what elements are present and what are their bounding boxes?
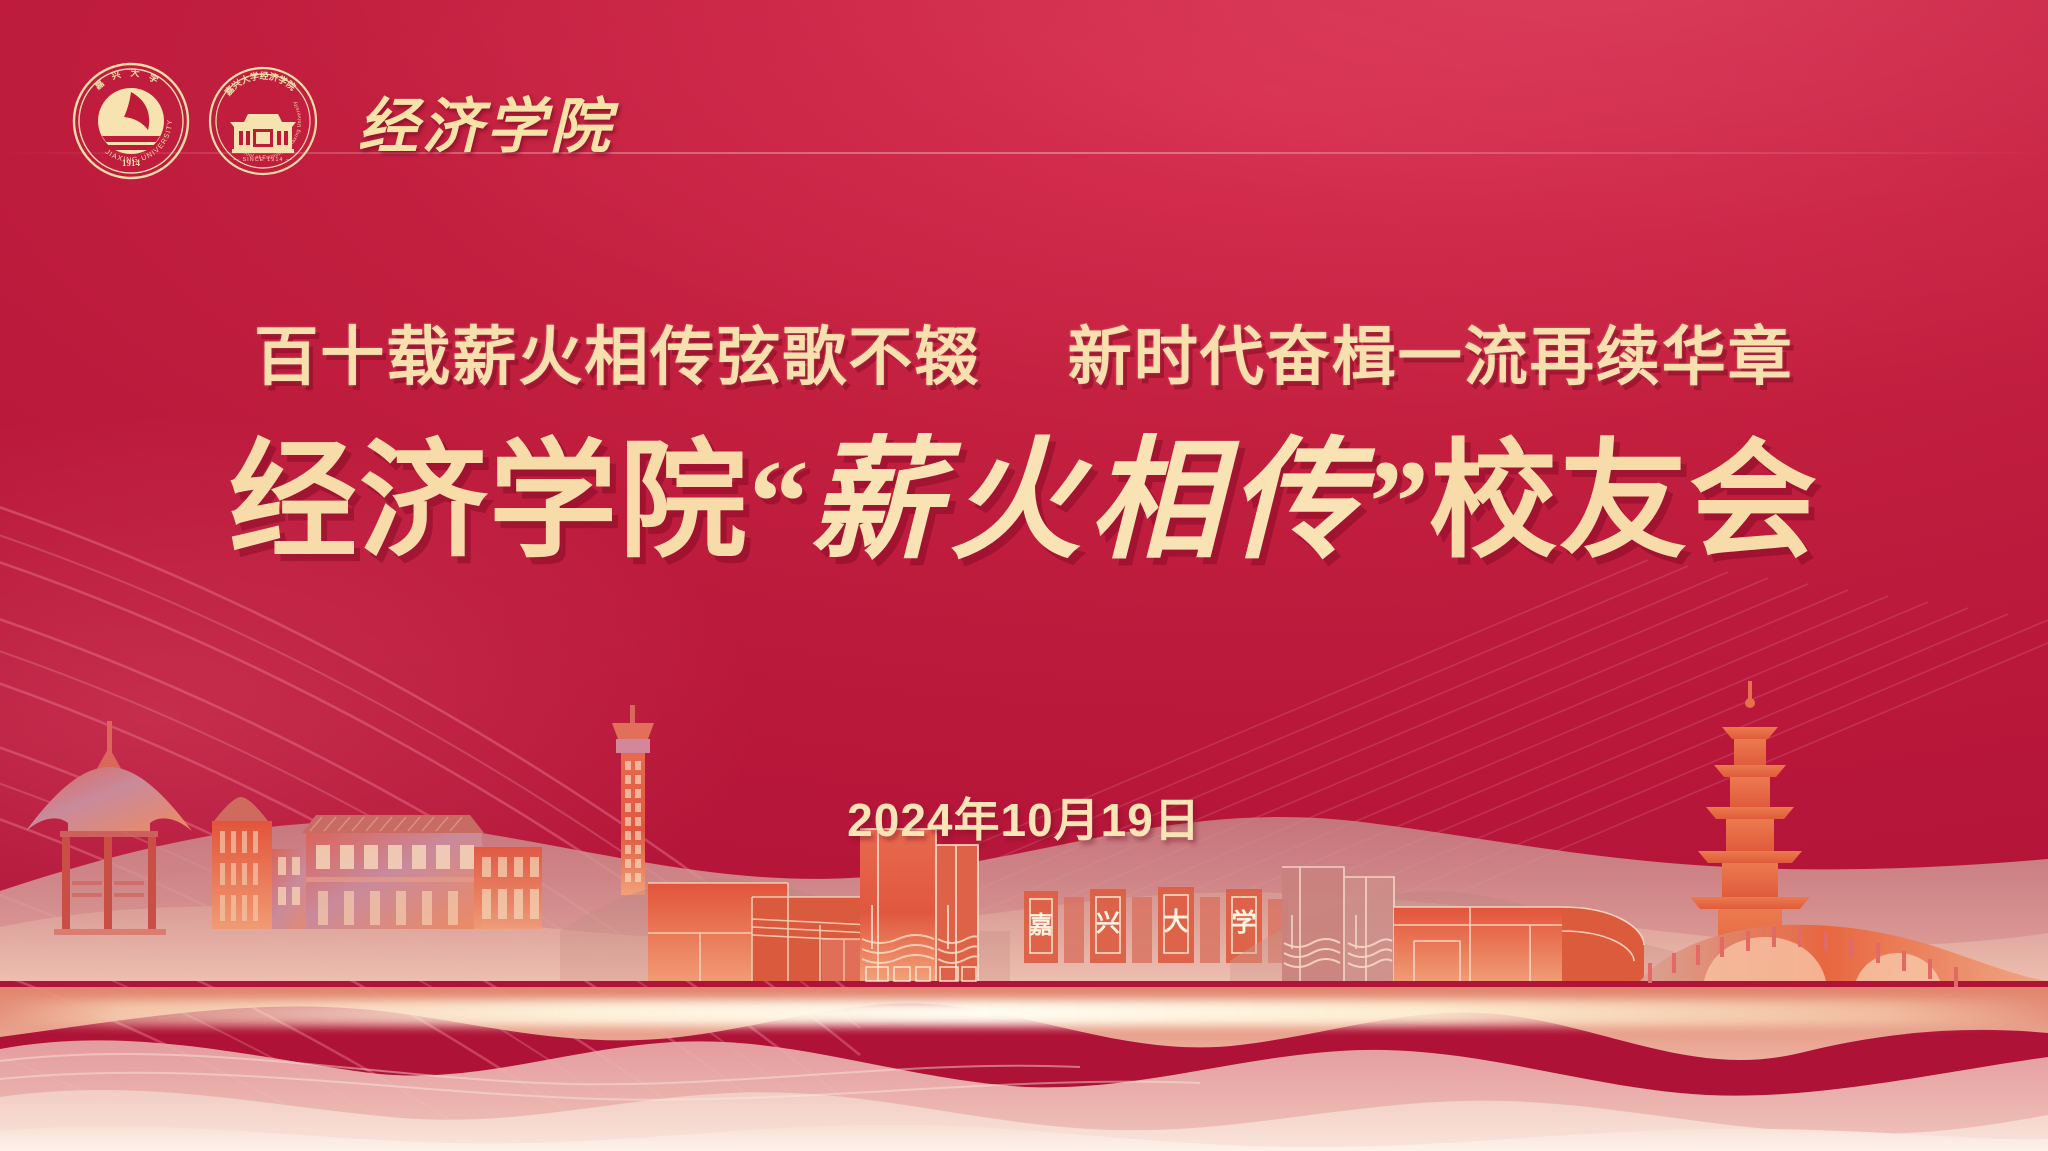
poster-main-title: 经济学院“薪火相传”校友会 <box>0 436 2048 568</box>
event-date: 2024年10月19日 <box>0 784 2048 850</box>
title-calligraphy: 薪火相传 <box>809 428 1369 575</box>
header-school-name: 经济学院 <box>358 78 614 165</box>
svg-text:嘉 兴 大 学: 嘉 兴 大 学 <box>91 67 160 92</box>
gate-character-1: 兴 <box>1096 910 1120 937</box>
header-logos: 嘉 兴 大 学 JIAXING UNIVERSITY 1914 <box>72 62 614 180</box>
poster-canvas: 嘉 兴 大 学 <box>0 0 2048 1151</box>
gate-character-2: 大 <box>1163 908 1188 936</box>
svg-text:1914: 1914 <box>122 158 141 168</box>
school-of-economics-emblem: 嘉兴大学经济学院 School of Economics Jiaxing Uni… <box>208 66 318 176</box>
subtitle-right: 新时代奋楫一流再续华章 <box>1068 321 1794 393</box>
modern-library <box>648 883 870 981</box>
subtitle-left: 百十载薪火相传弦歌不辍 <box>254 321 980 393</box>
gate-character-3: 学 <box>1231 908 1256 937</box>
city-skyline-illustration: 嘉 兴 大 学 <box>0 681 2048 1151</box>
title-part-1: 经济学院 <box>229 430 749 573</box>
poster-subtitle: 百十载薪火相传弦歌不辍 新时代奋楫一流再续华章 <box>0 306 2048 398</box>
svg-text:— SINCE 1914 —: — SINCE 1914 — <box>233 157 292 163</box>
wave-layer-1 <box>0 987 2048 1060</box>
tower-block-red <box>860 829 978 981</box>
title-part-2: 校友会 <box>1429 430 1819 573</box>
title-quote-close: ” <box>1369 435 1429 568</box>
gate-character-0: 嘉 <box>1029 912 1053 939</box>
title-quote-open: “ <box>749 435 809 568</box>
jiaxing-university-emblem: 嘉 兴 大 学 JIAXING UNIVERSITY 1914 <box>72 62 190 180</box>
